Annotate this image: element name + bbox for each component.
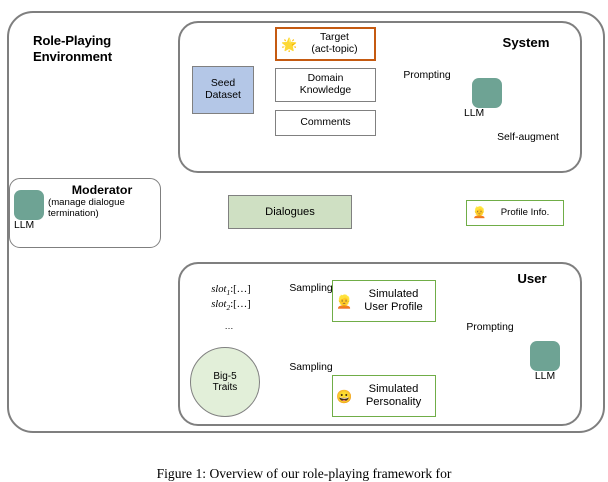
prompting-label-user: Prompting <box>457 322 523 333</box>
figure-caption: Figure 1: Overview of our role-playing f… <box>0 466 608 482</box>
dialogues-label: Dialogues <box>265 206 315 219</box>
openai-logo-icon <box>472 78 502 108</box>
sim-personality-line1: Simulated <box>369 383 419 395</box>
profile-info-label: Profile Info. <box>487 208 563 219</box>
moderator-title: Moderator <box>50 183 154 197</box>
domain-knowledge-line1: Domain <box>308 73 344 85</box>
big5-line2: Traits <box>213 382 238 393</box>
slot-document-ellipsis: … <box>189 321 269 331</box>
sampling-label-profile: Sampling <box>285 283 337 294</box>
sparkles-icon: 🌟 <box>281 38 297 51</box>
openai-logo-icon <box>14 190 44 220</box>
profile-info-box: 👱 Profile Info. <box>466 200 564 226</box>
llm-label-moderator: LLM <box>14 220 62 231</box>
domain-knowledge-box: Domain Knowledge <box>275 68 376 102</box>
person-tie-icon: 👱 <box>472 208 487 219</box>
slot2-label: slot <box>211 299 226 310</box>
figure-diagram: Role-Playing Environment System User See… <box>0 0 608 478</box>
llm-label-system: LLM <box>463 108 511 119</box>
seed-dataset-line2: Dataset <box>205 90 241 102</box>
sim-personality-line2: Personality <box>366 396 421 408</box>
target-line1: Target <box>320 32 349 43</box>
simulated-user-profile-text: Simulated User Profile <box>352 288 435 313</box>
comments-label: Comments <box>300 117 350 129</box>
dialogues-box: Dialogues <box>228 195 352 229</box>
slot-document-text: slot1:[…] slot2:[…] <box>189 283 273 312</box>
llm-icon-user: LLM <box>521 341 569 382</box>
self-augment-label: Self-augment <box>489 132 567 143</box>
target-act-topic-box: 🌟 Target (act-topic) <box>275 27 376 61</box>
comments-box: Comments <box>275 110 376 136</box>
system-title: System <box>486 35 566 50</box>
slot2-brackets: :[…] <box>230 299 251 310</box>
simulated-personality-text: Simulated Personality <box>352 383 435 408</box>
slot1-label: slot <box>211 284 226 295</box>
big5-line1: Big-5 <box>213 371 236 382</box>
sim-profile-line1: Simulated <box>369 288 419 300</box>
simulated-user-profile-box: 👱 Simulated User Profile <box>332 280 436 322</box>
sim-profile-line2: User Profile <box>364 301 422 313</box>
seed-dataset-line1: Seed <box>211 78 235 90</box>
prompting-label-system: Prompting <box>394 70 460 81</box>
moderator-subtitle: (manage dialogue termination) <box>48 198 160 220</box>
grinning-face-icon: 😀 <box>336 390 352 403</box>
simulated-personality-box: 😀 Simulated Personality <box>332 375 436 417</box>
llm-icon-system: LLM <box>463 78 511 119</box>
openai-logo-icon <box>530 341 560 371</box>
domain-knowledge-line2: Knowledge <box>300 85 351 97</box>
person-tie-icon: 👱 <box>336 295 352 308</box>
slot-document: slot1:[…] slot2:[…] … <box>189 277 273 337</box>
slot1-brackets: :[…] <box>230 284 251 295</box>
target-line2: (act-topic) <box>311 44 357 55</box>
seed-dataset-box: Seed Dataset <box>192 66 254 114</box>
llm-label-user: LLM <box>521 371 569 382</box>
sampling-label-personality: Sampling <box>285 362 337 373</box>
user-title: User <box>497 271 567 286</box>
big5-traits-circle: Big-5 Traits <box>190 347 260 417</box>
role-playing-environment-title: Role-Playing Environment <box>33 33 193 65</box>
target-box-text: Target (act-topic) <box>297 32 374 55</box>
llm-icon-moderator: LLM <box>14 190 62 231</box>
